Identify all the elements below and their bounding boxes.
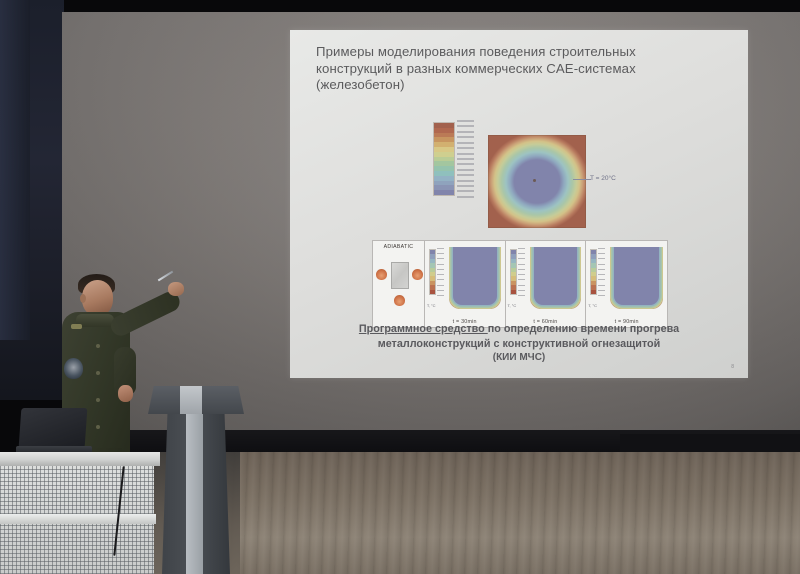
uniform-button <box>96 398 100 402</box>
podium-stripe <box>186 414 203 574</box>
section-block <box>391 262 409 289</box>
contour-core <box>453 247 497 305</box>
mini-colorbar-tick <box>437 248 444 249</box>
adiabatic-label: ADIABATIC <box>373 244 424 250</box>
desk-rail <box>0 514 156 524</box>
colorbar-tick-label <box>457 163 474 165</box>
mini-colorbar-tick <box>598 295 605 296</box>
mini-colorbar-tick <box>598 290 605 291</box>
mini-colorbar-tick <box>518 269 525 270</box>
mini-colorbar-label: T, °C <box>508 303 517 308</box>
caption-underlined-part: Программное средство <box>359 323 488 335</box>
contour-panel-t30: T, °C t = 30min <box>425 241 506 327</box>
rank-insignia <box>71 324 82 329</box>
mini-colorbar-ticks <box>518 248 528 296</box>
mini-colorbar-tick <box>437 274 444 275</box>
mini-colorbar-tick <box>518 253 525 254</box>
podium <box>148 386 244 574</box>
u-shaped-contour-field <box>610 247 663 309</box>
caption-line-2: металлоконструкций с конструктивной огне… <box>308 337 730 352</box>
colorbar-tick-label <box>457 147 474 149</box>
mini-colorbar-tick <box>598 274 605 275</box>
slide-title-line-1: Примеры моделирования поведения строител… <box>316 44 736 61</box>
lecture-hall-photo: Примеры моделирования поведения строител… <box>0 0 800 574</box>
presenter-lower-hand <box>118 385 133 402</box>
colorbar-tick-label <box>457 153 474 155</box>
adiabatic-panel: ADIABATIC <box>373 241 425 327</box>
mini-colorbar-tick <box>598 279 605 280</box>
caption-line-1: Программное средство по определению врем… <box>308 322 730 337</box>
mini-colorbar-band <box>511 290 516 294</box>
caption-line-3: (КИИ МЧС) <box>308 351 730 366</box>
flame-icon <box>394 295 405 306</box>
annotation-leader-line <box>573 179 591 180</box>
podium-top-stripe <box>180 386 202 414</box>
flame-icon <box>412 269 423 280</box>
colorbar-band <box>434 190 454 195</box>
presenter-desk <box>0 452 160 574</box>
mini-colorbar-tick <box>518 274 525 275</box>
main-colorbar <box>433 122 455 196</box>
colorbar-tick-label <box>457 131 474 133</box>
uniform-buttons <box>96 344 102 444</box>
mini-colorbar-tick <box>518 279 525 280</box>
main-figure-annotation: T = 20°C <box>590 175 616 182</box>
colorbar-tick-label <box>457 180 474 182</box>
mini-colorbar-ticks <box>598 248 608 296</box>
mini-colorbar-ticks <box>437 248 447 296</box>
contour-panel-t90: T, °C t = 90min <box>586 241 667 327</box>
mini-colorbar-tick <box>598 253 605 254</box>
mini-colorbar-band <box>430 290 435 294</box>
mini-colorbar-tick <box>598 285 605 286</box>
back-wall-lower <box>620 434 800 452</box>
shoulder-patch <box>64 358 83 379</box>
colorbar-tick-label <box>457 125 474 127</box>
contour-core <box>614 247 659 305</box>
mini-colorbar-label: T, °C <box>588 303 597 308</box>
laptop-screen <box>19 408 88 448</box>
slide-title: Примеры моделирования поведения строител… <box>316 44 736 94</box>
presentation-slide: Примеры моделирования поведения строител… <box>290 30 748 378</box>
mini-colorbar-tick <box>437 279 444 280</box>
mini-colorbar-tick <box>437 295 444 296</box>
left-curtain <box>0 0 30 340</box>
colorbar-tick-label <box>457 142 474 144</box>
presenter-raised-hand <box>168 282 184 296</box>
center-node-marker <box>533 179 536 182</box>
contour-core <box>534 247 578 305</box>
colorbar-tick-label <box>457 158 474 160</box>
main-colorbar-ticks <box>457 120 483 198</box>
presenter-ear <box>80 294 86 303</box>
mini-colorbar-tick <box>598 248 605 249</box>
mini-colorbar-tick <box>598 269 605 270</box>
colorbar-tick-label <box>457 169 474 171</box>
slide-caption: Программное средство по определению врем… <box>308 322 730 366</box>
mini-colorbar-tick <box>437 290 444 291</box>
u-shaped-contour-field <box>530 247 582 309</box>
mini-colorbar-tick <box>437 253 444 254</box>
u-shaped-contour-field <box>449 247 501 309</box>
slide-number: 8 <box>731 364 734 370</box>
mini-colorbar-tick <box>437 269 444 270</box>
colorbar-tick-label <box>457 136 474 138</box>
laptop <box>16 408 88 456</box>
panel-row: ADIABATIC T, °C t = 30min T, °C <box>372 240 668 328</box>
main-thermal-contour-figure <box>488 135 586 228</box>
uniform-button <box>96 371 100 375</box>
mini-colorbar-tick <box>437 258 444 259</box>
pointer-device-icon <box>158 271 173 282</box>
mini-colorbar <box>510 249 517 295</box>
uniform-button <box>96 344 100 348</box>
uniform-button <box>96 425 100 429</box>
presenter-head <box>82 280 113 316</box>
mini-colorbar-tick <box>437 264 444 265</box>
colorbar-tick-label <box>457 120 474 122</box>
mini-colorbar-label: T, °C <box>427 303 436 308</box>
desk-top <box>0 452 160 466</box>
mini-colorbar <box>429 249 436 295</box>
colorbar-tick-label <box>457 174 474 176</box>
mini-colorbar-tick <box>518 264 525 265</box>
slide-title-line-3: (железобетон) <box>316 77 736 94</box>
mini-colorbar-tick <box>437 285 444 286</box>
colorbar-tick-label <box>457 196 474 198</box>
mini-colorbar-tick <box>518 258 525 259</box>
mini-colorbar <box>590 249 597 295</box>
caption-rest: по определению времени прогрева <box>488 323 679 335</box>
mini-colorbar-tick <box>598 264 605 265</box>
mini-colorbar-tick <box>518 248 525 249</box>
colorbar-tick-label <box>457 185 474 187</box>
mini-colorbar-tick <box>518 290 525 291</box>
colorbar-tick-label <box>457 190 474 192</box>
mini-colorbar-tick <box>598 258 605 259</box>
flame-icon <box>376 269 387 280</box>
mini-colorbar-tick <box>518 295 525 296</box>
mini-colorbar-band <box>591 290 596 294</box>
slide-title-line-2: конструкций в разных коммерческих CAE-си… <box>316 61 736 78</box>
contour-panel-t60: T, °C t = 60min <box>506 241 587 327</box>
mini-colorbar-tick <box>518 285 525 286</box>
